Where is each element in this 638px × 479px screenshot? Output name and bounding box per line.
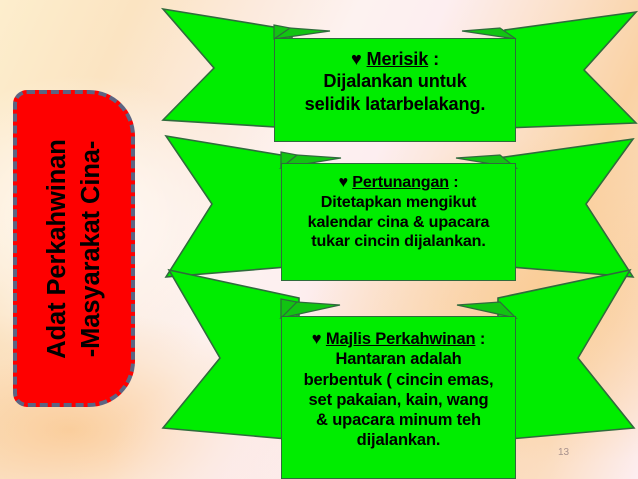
ribbon-3-line-4: & upacara minum teh [304,410,494,430]
ribbon-3-line-2: berbentuk ( cincin emas, [304,370,494,390]
ribbon-1-panel-text: ♥ Merisik : Dijalankan untuk selidik lat… [305,48,486,115]
heart-icon: ♥ [351,49,362,69]
ribbon-1-heading: Merisik [367,49,429,69]
ribbon-3-panel: ♥ Majlis Perkahwinan : Hantaran adalah b… [281,316,516,479]
ribbon-3-panel-text: ♥ Majlis Perkahwinan : Hantaran adalah b… [304,329,494,451]
title-text: Adat Perkahwinan -Masyarakat Cina- [40,96,108,401]
heart-icon: ♥ [339,173,348,191]
heart-icon: ♥ [312,330,322,348]
ribbon-2-heading: Pertunangan [352,173,449,191]
ribbon-3-line-5: dijalankan. [304,430,494,450]
ribbon-1-line-1: Dijalankan untuk [305,70,486,92]
ribbon-3-line-1: Hantaran adalah [304,349,494,369]
ribbon-2-panel-text: ♥ Pertunangan : Ditetapkan mengikut kale… [308,173,490,252]
ribbon-3-heading-suffix: : [475,330,485,348]
ribbon-1-heading-line: ♥ Merisik : [305,48,486,70]
ribbon-3-heading: Majlis Perkahwinan [326,330,476,348]
ribbon-1-panel: ♥ Merisik : Dijalankan untuk selidik lat… [274,38,516,142]
ribbon-2-heading-line: ♥ Pertunangan : [308,173,490,193]
ribbon-3-line-3: set pakaian, kain, wang [304,390,494,410]
ribbon-1-heading-suffix: : [428,49,439,69]
title-line-2: -Masyarakat Cina- [74,96,108,401]
ribbon-2-line-2: kalendar cina & upacara [308,213,490,233]
ribbon-2-panel: ♥ Pertunangan : Ditetapkan mengikut kale… [281,163,516,281]
ribbon-2-line-3: tukar cincin dijalankan. [308,232,490,252]
ribbon-3-left-wing [163,270,299,440]
ribbon-3-heading-line: ♥ Majlis Perkahwinan : [304,329,494,349]
slide-number: 13 [558,447,569,458]
ribbon-3-right-wing [498,270,634,440]
ribbon-2-line-1: Ditetapkan mengikut [308,193,490,213]
title-line-1: Adat Perkahwinan [40,96,74,401]
ribbon-2-heading-suffix: : [449,173,459,191]
ribbon-1-line-2: selidik latarbelakang. [305,93,486,115]
slide-canvas: ♥ Merisik : Dijalankan untuk selidik lat… [0,0,638,479]
title-box: Adat Perkahwinan -Masyarakat Cina- [13,90,135,407]
